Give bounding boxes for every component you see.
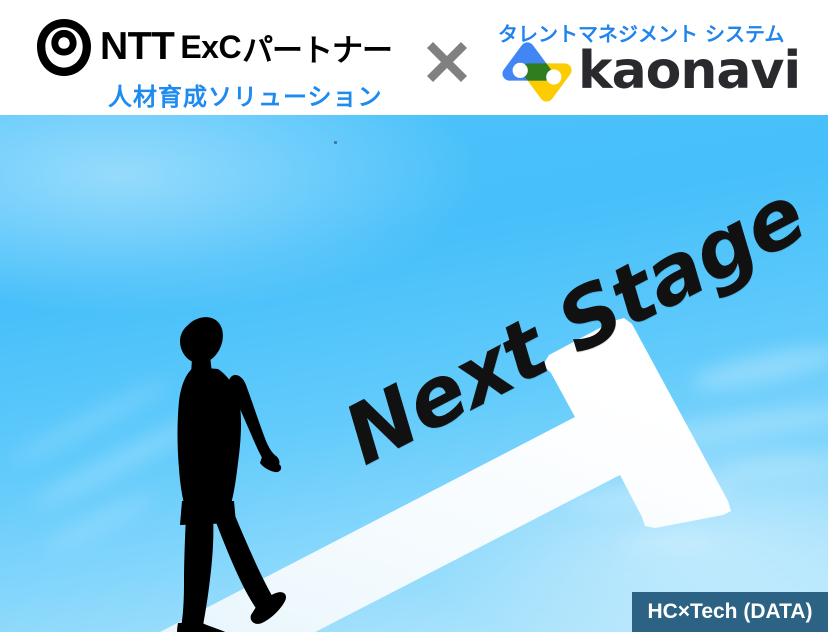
ntt-dynamic-loop-icon: [33, 17, 95, 79]
ntt-wordmark: NTT ExC パートナー: [100, 24, 392, 70]
ntt-tagline: 人材育成ソリューション: [108, 77, 383, 112]
kaonavi-two-triangle-icon: [498, 42, 576, 102]
status-badge-label: HC×Tech (DATA): [647, 600, 812, 624]
ntt-wordmark-kana: パートナー: [242, 25, 392, 70]
multiply-icon: [425, 40, 469, 84]
ntt-wordmark-secondary: ExC: [180, 29, 241, 66]
sky-photo-area: Next Stage: [0, 115, 828, 632]
kaonavi-logo-group: タレントマネジメント システム: [492, 0, 822, 115]
walking-person-silhouette: [158, 311, 288, 632]
slide-canvas: NTT ExC パートナー 人材育成ソリューション タレントマネジメント システ…: [0, 0, 828, 632]
ntt-wordmark-primary: NTT: [100, 25, 174, 69]
logo-header-bar: NTT ExC パートナー 人材育成ソリューション タレントマネジメント システ…: [0, 0, 828, 115]
ntt-exc-partner-logo-group: NTT ExC パートナー 人材育成ソリューション: [28, 0, 418, 115]
status-badge: HC×Tech (DATA): [632, 592, 828, 632]
kaonavi-wordmark: kaonavi: [578, 42, 800, 100]
